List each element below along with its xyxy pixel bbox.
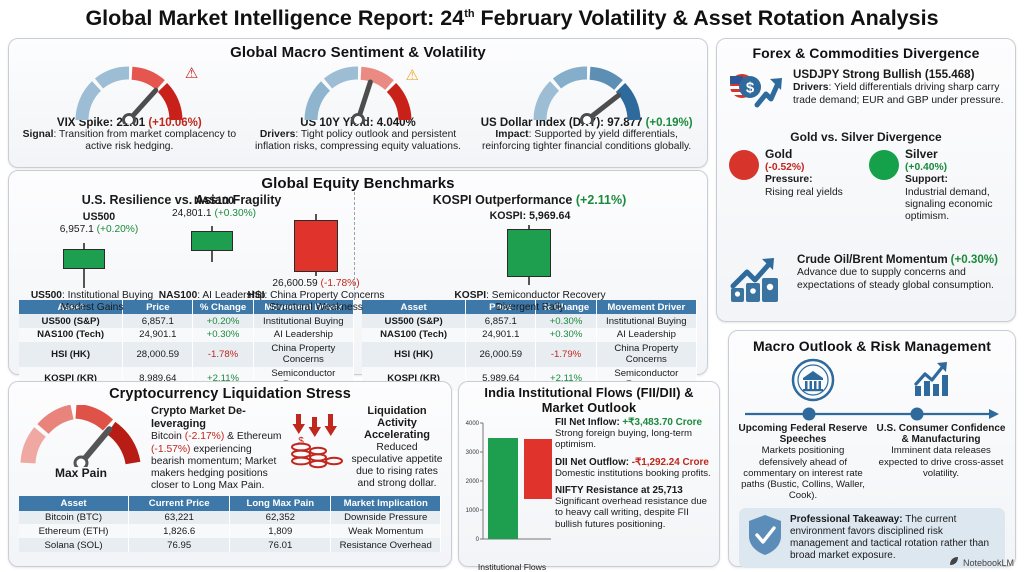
macro-panel-title: Global Macro Sentiment & Volatility — [9, 39, 707, 61]
cell-implication: Weak Momentum — [331, 524, 441, 538]
nas100-delta: (+0.30%) — [214, 208, 256, 219]
crypto-panel-title: Cryptocurrency Liquidation Stress — [9, 382, 451, 402]
crypto-liquidation-panel: Cryptocurrency Liquidation Stress Max Pa… — [8, 381, 452, 567]
crypto-table-wrap: Asset Current Price Long Max Pain Market… — [9, 492, 451, 552]
equity-right-subtitle: KOSPI Outperformance (+2.11%) — [355, 193, 704, 207]
fii-dii-bar-chart: 01000 200030004000 Institutional Flows — [461, 417, 553, 557]
india-title-line2: Market Outlook — [542, 400, 637, 415]
nifty-block: NIFTY Resistance at 25,713 Significant o… — [555, 485, 715, 530]
nifty-text: Significant overhead resistance due to h… — [555, 496, 707, 529]
kospi-driver: KOSPI: Semiconductor Recovery Divergent … — [435, 290, 625, 314]
cell-asset: NAS100 (Tech) — [19, 328, 123, 342]
cell-driver: Institutional Buying — [596, 314, 696, 328]
page-title-ordinal: th — [464, 7, 474, 19]
gold-silver-title: Gold vs. Silver Divergence — [717, 130, 1015, 144]
crypto-mid-pre: Bitcoin — [151, 431, 185, 442]
vix-body-label: Signal — [23, 129, 54, 140]
equity-candlestick-area: U.S. Resilience vs. Asian Fragility US50… — [9, 192, 707, 300]
kospi-subtitle-delta: (+2.11%) — [576, 193, 626, 207]
gold-pct: (-0.52%) — [765, 162, 804, 173]
cell-price: 1,826.6 — [129, 524, 230, 538]
th-market-implication: Market Implication — [331, 496, 441, 510]
us-flag-dollar-uptrend-icon: $ — [727, 69, 785, 122]
liquidation-headline: Liquidation Activity Accelerating — [351, 405, 443, 442]
table-row: US500 (S&P)6,857.1+0.30%Institutional Bu… — [362, 314, 697, 328]
forex-commodities-panel: Forex & Commodities Divergence $ USDJP — [716, 38, 1016, 322]
table-header-row: Asset Current Price Long Max Pain Market… — [19, 496, 441, 510]
cell-price: 24,901.1 — [466, 328, 536, 342]
cell-price: 6,857.1 — [466, 314, 536, 328]
table-row: Bitcoin (BTC)63,22162,352Downside Pressu… — [19, 511, 441, 525]
gold-body: Rising real yields — [765, 187, 843, 198]
vix-gauge-graphic: ⚠ — [17, 64, 242, 116]
cell-price: 76.95 — [129, 538, 230, 552]
notebooklm-brand: NotebookLM — [949, 556, 1014, 569]
silver-body: Industrial demand, signaling economic op… — [905, 187, 993, 222]
liquidation-activity-text: Liquidation Activity Accelerating Reduce… — [351, 405, 443, 492]
cell-asset: HSI (HK) — [362, 342, 466, 367]
kospi-name: KOSPI: 5,969.64 — [490, 210, 571, 222]
us500-candle — [63, 243, 105, 288]
gold-silver-row: Gold (-0.52%) Pressure: Rising real yiel… — [717, 144, 1015, 223]
cell-driver: China Property Concerns — [253, 342, 353, 367]
gold-block: Gold (-0.52%) Pressure: Rising real yiel… — [729, 148, 863, 223]
shield-check-icon — [747, 514, 783, 561]
hsi-value: 26,600.59 — [272, 278, 317, 289]
cell-price: 6,857.1 — [123, 314, 193, 328]
oil-barrels-uptrend-icon — [727, 254, 789, 309]
oil-body: Advance due to supply concerns and expec… — [797, 267, 994, 290]
chart-x-label: Institutional Flows — [471, 562, 553, 572]
svg-text:4000: 4000 — [466, 421, 480, 427]
macro-sentiment-panel: Global Macro Sentiment & Volatility ⚠ VI… — [8, 38, 708, 168]
outlook-item-consumer: U.S. Consumer Confidence & Manufacturing… — [875, 423, 1007, 501]
cell-driver: AI Leadership — [253, 328, 353, 342]
silver-dot-icon — [869, 150, 899, 180]
table-row: US500 (S&P)6,857.1+0.20%Institutional Bu… — [19, 314, 354, 328]
cell-asset: US500 (S&P) — [362, 314, 466, 328]
dii-block: DII Net Outflow: -₹1,292.24 Crore Domest… — [555, 457, 715, 479]
oil-block: Crude Oil/Brent Momentum (+0.30%) Advanc… — [717, 246, 1019, 309]
svg-text:3000: 3000 — [466, 450, 480, 456]
kospi-driver-label: KOSPI — [454, 290, 486, 301]
outlook-panel-title: Macro Outlook & Risk Management — [729, 331, 1015, 354]
oil-text: Crude Oil/Brent Momentum (+0.30%) Advanc… — [797, 254, 1009, 309]
cell-maxpain: 1,809 — [230, 524, 331, 538]
us500-driver-label: US500 — [31, 290, 62, 301]
outlook-timeline — [745, 407, 999, 421]
fii-value: +₹3,483.70 Crore — [622, 417, 702, 428]
consumer-heading: U.S. Consumer Confidence & Manufacturing — [875, 423, 1007, 445]
kospi-candle-label: KOSPI: 5,969.64 — [455, 211, 605, 223]
fed-text: Markets positioning defensively ahead of… — [741, 445, 865, 501]
usdjpy-block: $ USDJPY Strong Bullish (155.468) Driver… — [717, 61, 1015, 122]
silver-text: Silver (+0.40%) Support: Industrial dema… — [905, 148, 1003, 223]
crypto-body: Max Pain Crypto Market De-leveraging Bit… — [9, 402, 451, 492]
cell-asset: HSI (HK) — [19, 342, 123, 367]
cell-asset: Ethereum (ETH) — [19, 524, 129, 538]
outlook-item-fed: Upcoming Federal Reserve Speeches Market… — [737, 423, 869, 501]
oil-headline: Crude Oil/Brent Momentum — [797, 253, 948, 266]
hsi-driver-label: HSI — [247, 290, 264, 301]
nas100-candle-label: NAS100 24,801.1 (+0.30%) — [139, 196, 289, 219]
nas100-value: 24,801.1 — [172, 208, 212, 219]
nas100-driver-label: NAS100 — [159, 290, 198, 301]
macro-gauges: ⚠ VIX Spike: 21.01 (+10.06%) Signal: Tra… — [9, 61, 707, 153]
cell-price: 24,901.1 — [123, 328, 193, 342]
global-equity-panel: Global Equity Benchmarks U.S. Resilience… — [8, 170, 708, 375]
fed-heading: Upcoming Federal Reserve Speeches — [737, 423, 869, 445]
india-body: 01000 200030004000 Institutional Flows F… — [459, 415, 719, 557]
fii-block: FII Net Inflow: +₹3,483.70 Crore Strong … — [555, 417, 715, 451]
us500-name: US500 — [83, 211, 115, 223]
table-row: NAS100 (Tech)24,901.1+0.30%AI Leadership — [362, 328, 697, 342]
us500-value: 6,957.1 — [60, 224, 94, 235]
equity-left-group: U.S. Resilience vs. Asian Fragility US50… — [9, 192, 354, 300]
cell-asset: NAS100 (Tech) — [362, 328, 466, 342]
kospi-candle — [507, 225, 551, 285]
takeaway-label: Professional Takeaway: — [790, 514, 903, 525]
us10y-gauge-graphic: ⚠ — [245, 64, 470, 116]
nas100-name: NAS100 — [194, 195, 234, 207]
hsi-candle — [294, 214, 338, 276]
consumer-text: Imminent data releases expected to drive… — [879, 445, 1004, 478]
kospi-driver-text: : Semiconductor Recovery — [486, 290, 605, 301]
dii-text: Domestic institutions booking profits. — [555, 468, 711, 479]
page-title: Global Market Intelligence Report: 24th … — [0, 2, 1024, 34]
cell-maxpain: 62,352 — [230, 511, 331, 525]
fii-label: FII Net Inflow: — [555, 417, 620, 428]
crypto-mid-amp: & Ethereum — [224, 431, 281, 442]
nas100-candle — [191, 226, 233, 262]
cell-implication: Downside Pressure — [331, 511, 441, 525]
macro-outlook-panel: Macro Outlook & Risk Management — [728, 330, 1016, 567]
liquidation-body: Reduced speculative appetite due to risi… — [352, 442, 443, 490]
crypto-table: Asset Current Price Long Max Pain Market… — [19, 496, 441, 552]
cell-change: +0.20% — [193, 314, 253, 328]
gold-label: Pressure: — [765, 174, 813, 185]
brand-name: NotebookLM — [963, 558, 1014, 568]
cell-price: 28,000.59 — [123, 342, 193, 367]
nifty-label: NIFTY Resistance at 25,713 — [555, 485, 683, 496]
th-long-max-pain: Long Max Pain — [230, 496, 331, 510]
table-row: NAS100 (Tech)24,901.1+0.30%AI Leadership — [19, 328, 354, 342]
silver-block: Silver (+0.40%) Support: Industrial dema… — [869, 148, 1003, 223]
dxy-delta: (+0.19%) — [646, 117, 693, 129]
eth-pct: (-1.57%) — [151, 444, 190, 455]
warning-triangle-icon: ⚠ — [185, 66, 198, 81]
vix-body-text: : Transition from market complacency to … — [54, 129, 237, 152]
cell-driver: Institutional Buying — [253, 314, 353, 328]
dxy-gauge-graphic — [474, 64, 699, 116]
usdjpy-text: USDJPY Strong Bullish (155.468) Drivers:… — [793, 69, 1005, 122]
table-row: HSI (HK)28,000.59-1.78%China Property Co… — [19, 342, 354, 367]
india-text-block: FII Net Inflow: +₹3,483.70 Crore Strong … — [553, 417, 715, 557]
cell-change: -1.79% — [536, 342, 596, 367]
us10y-body-label: Drivers — [260, 129, 296, 140]
cell-price: 63,221 — [129, 511, 230, 525]
cell-asset: Solana (SOL) — [19, 538, 129, 552]
oil-pct: (+0.30%) — [951, 253, 998, 266]
dxy-body-label: Impact — [495, 129, 528, 140]
dii-label: DII Net Outflow: — [555, 457, 629, 468]
cell-maxpain: 76.01 — [230, 538, 331, 552]
crypto-mid-headline: Crypto Market De-leveraging — [151, 405, 246, 430]
crypto-deleveraging-text: Crypto Market De-leveraging Bitcoin (-2.… — [151, 405, 285, 492]
equity-panel-title: Global Equity Benchmarks — [9, 171, 707, 192]
max-pain-gauge: Max Pain — [17, 405, 145, 492]
kospi-driver-line2: Divergent Rally — [495, 302, 564, 313]
th-current-price: Current Price — [129, 496, 230, 510]
cell-driver: China Property Concerns — [596, 342, 696, 367]
silver-label: Support: — [905, 174, 948, 185]
india-flows-panel: India Institutional Flows (FII/DII) & Ma… — [458, 381, 720, 567]
forex-panel-title: Forex & Commodities Divergence — [717, 39, 1015, 61]
cell-asset: US500 (S&P) — [19, 314, 123, 328]
fii-text: Strong foreign buying, long-term optimis… — [555, 428, 692, 450]
india-panel-title: India Institutional Flows (FII/DII) & Ma… — [459, 382, 719, 415]
federal-reserve-seal-icon — [791, 358, 835, 407]
gauge-vix: ⚠ VIX Spike: 21.01 (+10.06%) Signal: Tra… — [17, 64, 242, 153]
svg-text:$: $ — [298, 436, 304, 447]
gold-dot-icon — [729, 150, 759, 180]
coins-down-arrows-icon: $ — [291, 405, 345, 492]
bar-chart-uptrend-icon — [910, 358, 954, 407]
outlook-icons-row — [729, 354, 1015, 407]
cell-change: +0.30% — [536, 328, 596, 342]
svg-text:2000: 2000 — [466, 479, 480, 485]
cell-change: +0.30% — [536, 314, 596, 328]
us500-driver-line2: Modest Gains — [61, 302, 124, 313]
gold-name: Gold — [765, 147, 792, 161]
page-title-pre: Global Market Intelligence Report: 24 — [85, 6, 464, 30]
india-title-line1: India Institutional Flows (FII/DII) & — [484, 385, 693, 400]
warning-triangle-icon: ⚠ — [405, 68, 418, 83]
svg-text:$: $ — [746, 80, 755, 97]
cell-change: +0.30% — [193, 328, 253, 342]
cell-implication: Resistance Overhead — [331, 538, 441, 552]
svg-text:1000: 1000 — [466, 508, 480, 514]
notebooklm-icon — [949, 556, 960, 569]
table-row: HSI (HK)26,000.59-1.79%China Property Co… — [362, 342, 697, 367]
btc-pct: (-2.17%) — [185, 431, 224, 442]
svg-text:0: 0 — [476, 537, 480, 543]
cell-driver: AI Leadership — [596, 328, 696, 342]
infographic-page: Global Market Intelligence Report: 24th … — [0, 0, 1024, 572]
silver-name: Silver — [905, 147, 938, 161]
cell-asset: Bitcoin (BTC) — [19, 511, 129, 525]
kospi-subtitle: KOSPI Outperformance — [433, 193, 573, 207]
outlook-items: Upcoming Federal Reserve Speeches Market… — [729, 421, 1015, 501]
hsi-driver-line2: Structural Weakness — [269, 302, 363, 313]
gauge-dxy: US Dollar Index (DXY): 97.877 (+0.19%) I… — [474, 64, 699, 153]
silver-pct: (+0.40%) — [905, 162, 947, 173]
table-row: Solana (SOL)76.9576.01Resistance Overhea… — [19, 538, 441, 552]
page-title-post: February Volatility & Asset Rotation Ana… — [475, 6, 939, 30]
usdjpy-label: Drivers — [793, 82, 829, 93]
cell-change: -1.78% — [193, 342, 253, 367]
usdjpy-headline: USDJPY Strong Bullish (155.468) — [793, 68, 974, 81]
max-pain-label: Max Pain — [17, 466, 145, 480]
table-row: Ethereum (ETH)1,826.61,809Weak Momentum — [19, 524, 441, 538]
dii-value: -₹1,292.24 Crore — [632, 457, 709, 468]
cell-price: 26,000.59 — [466, 342, 536, 367]
gold-text: Gold (-0.52%) Pressure: Rising real yiel… — [765, 148, 843, 223]
us500-delta: (+0.20%) — [97, 224, 139, 235]
max-pain-gauge-graphic — [20, 405, 142, 467]
th-asset: Asset — [19, 496, 129, 510]
gauge-us10y: ⚠ US 10Y Yield: 4.040% Drivers: Tight po… — [245, 64, 470, 153]
equity-right-group: KOSPI Outperformance (+2.11%) KOSPI: 5,9… — [354, 192, 704, 300]
